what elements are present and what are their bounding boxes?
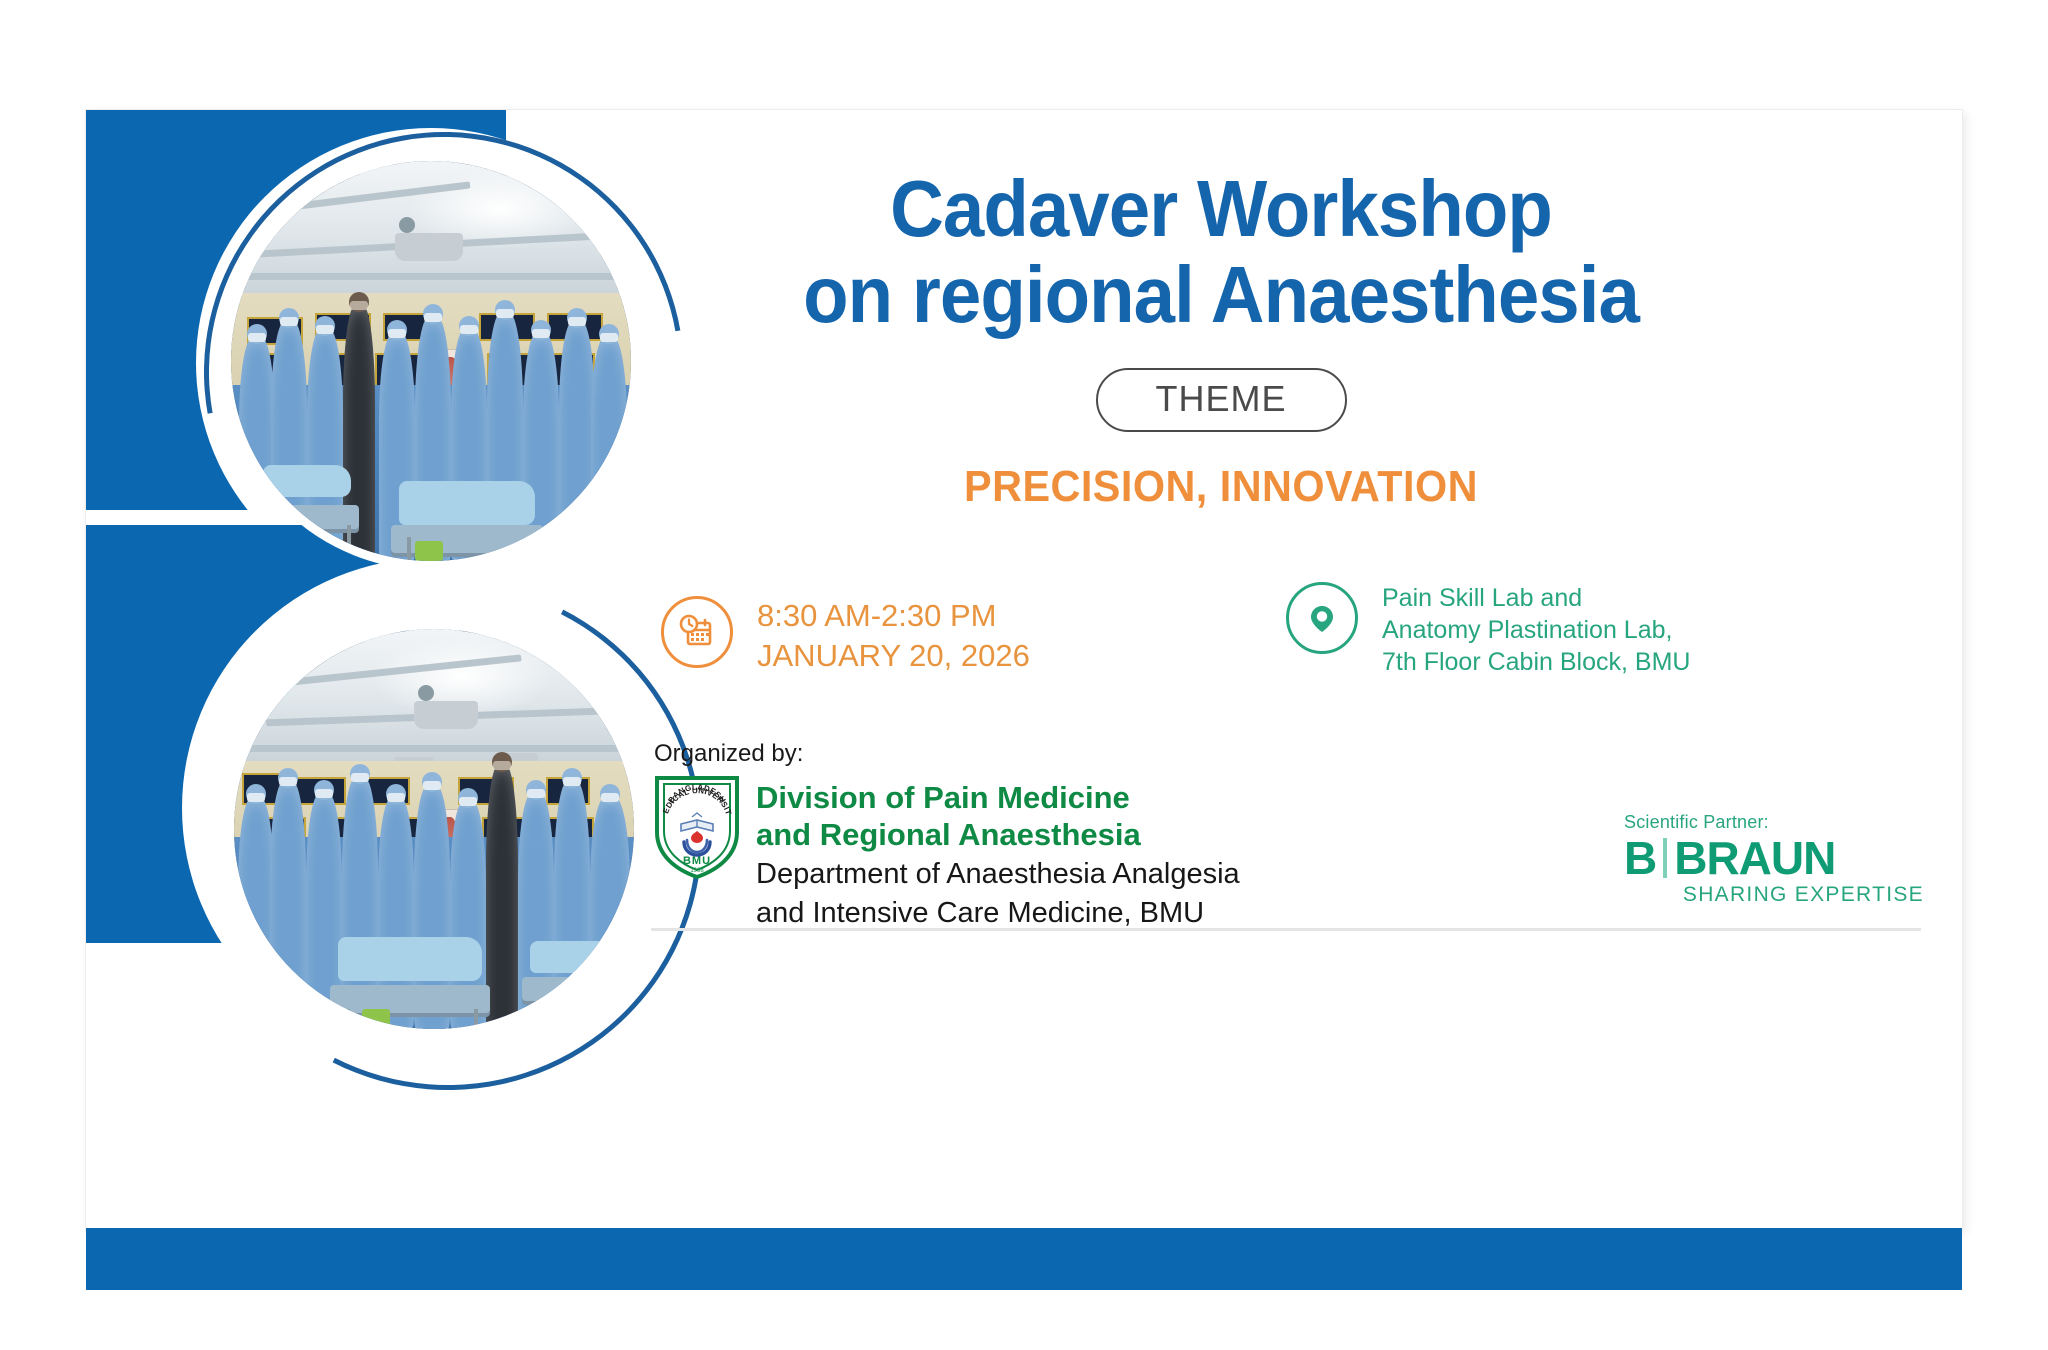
date-time-block: 8:30 AM-2:30 PM JANUARY 20, 2026 bbox=[661, 596, 1030, 677]
event-time: 8:30 AM-2:30 PM bbox=[757, 596, 1030, 636]
bottom-blue-bar bbox=[86, 1228, 1962, 1290]
partner-label: Scientific Partner: bbox=[1624, 812, 1924, 833]
location-line-3: 7th Floor Cabin Block, BMU bbox=[1382, 646, 1690, 678]
map-pin-icon bbox=[1286, 582, 1358, 654]
svg-text:BMU: BMU bbox=[683, 855, 711, 867]
bbraun-tagline: SHARING EXPERTISE bbox=[1624, 883, 1924, 907]
location-block: Pain Skill Lab and Anatomy Plastination … bbox=[1286, 582, 1690, 678]
info-row: 8:30 AM-2:30 PM JANUARY 20, 2026 Pain Sk… bbox=[556, 582, 1962, 722]
poster-card: Cadaver Workshop on regional Anaesthesia… bbox=[86, 110, 1962, 1230]
location-text: Pain Skill Lab and Anatomy Plastination … bbox=[1382, 582, 1690, 678]
division-line-1: Division of Pain Medicine bbox=[756, 780, 1240, 817]
organized-by-label: Organized by: bbox=[654, 740, 803, 768]
svg-text:1998: 1998 bbox=[690, 868, 704, 874]
scientific-partner-block: Scientific Partner: B BRAUN SHARING EXPE… bbox=[1624, 812, 1924, 907]
location-line-1: Pain Skill Lab and bbox=[1382, 582, 1690, 614]
calendar-clock-icon bbox=[661, 596, 733, 668]
bbraun-logo: B BRAUN bbox=[1624, 835, 1924, 881]
department-line-1: Department of Anaesthesia Analgesia bbox=[756, 857, 1240, 892]
location-line-2: Anatomy Plastination Lab, bbox=[1382, 614, 1690, 646]
bbraun-mark-name: BRAUN bbox=[1674, 835, 1835, 881]
bbraun-divider bbox=[1663, 838, 1667, 878]
department-line-2: and Intensive Care Medicine, BMU bbox=[756, 896, 1240, 931]
division-line-2: and Regional Anaesthesia bbox=[756, 817, 1240, 854]
poster-content: Cadaver Workshop on regional Anaesthesia… bbox=[556, 110, 1962, 1230]
page-title: Cadaver Workshop on regional Anaesthesia bbox=[603, 166, 1840, 337]
organizer-divider bbox=[651, 928, 1921, 931]
organizer-lines: Division of Pain Medicine and Regional A… bbox=[756, 780, 1240, 931]
theme-badge: THEME bbox=[1096, 368, 1347, 432]
bbraun-mark-b: B bbox=[1624, 835, 1656, 881]
date-time-text: 8:30 AM-2:30 PM JANUARY 20, 2026 bbox=[757, 596, 1030, 677]
title-line-2: on regional Anaesthesia bbox=[603, 252, 1840, 338]
poster-root: Cadaver Workshop on regional Anaesthesia… bbox=[0, 0, 2048, 1350]
theme-text: PRECISION, INNOVATION bbox=[596, 462, 1846, 512]
theme-badge-wrap: THEME bbox=[556, 368, 1886, 432]
event-date: JANUARY 20, 2026 bbox=[757, 636, 1030, 676]
bmu-shield-logo: BANGLADESH MEDICAL UNIVERSITY bbox=[651, 770, 743, 882]
title-line-1: Cadaver Workshop bbox=[603, 166, 1840, 252]
